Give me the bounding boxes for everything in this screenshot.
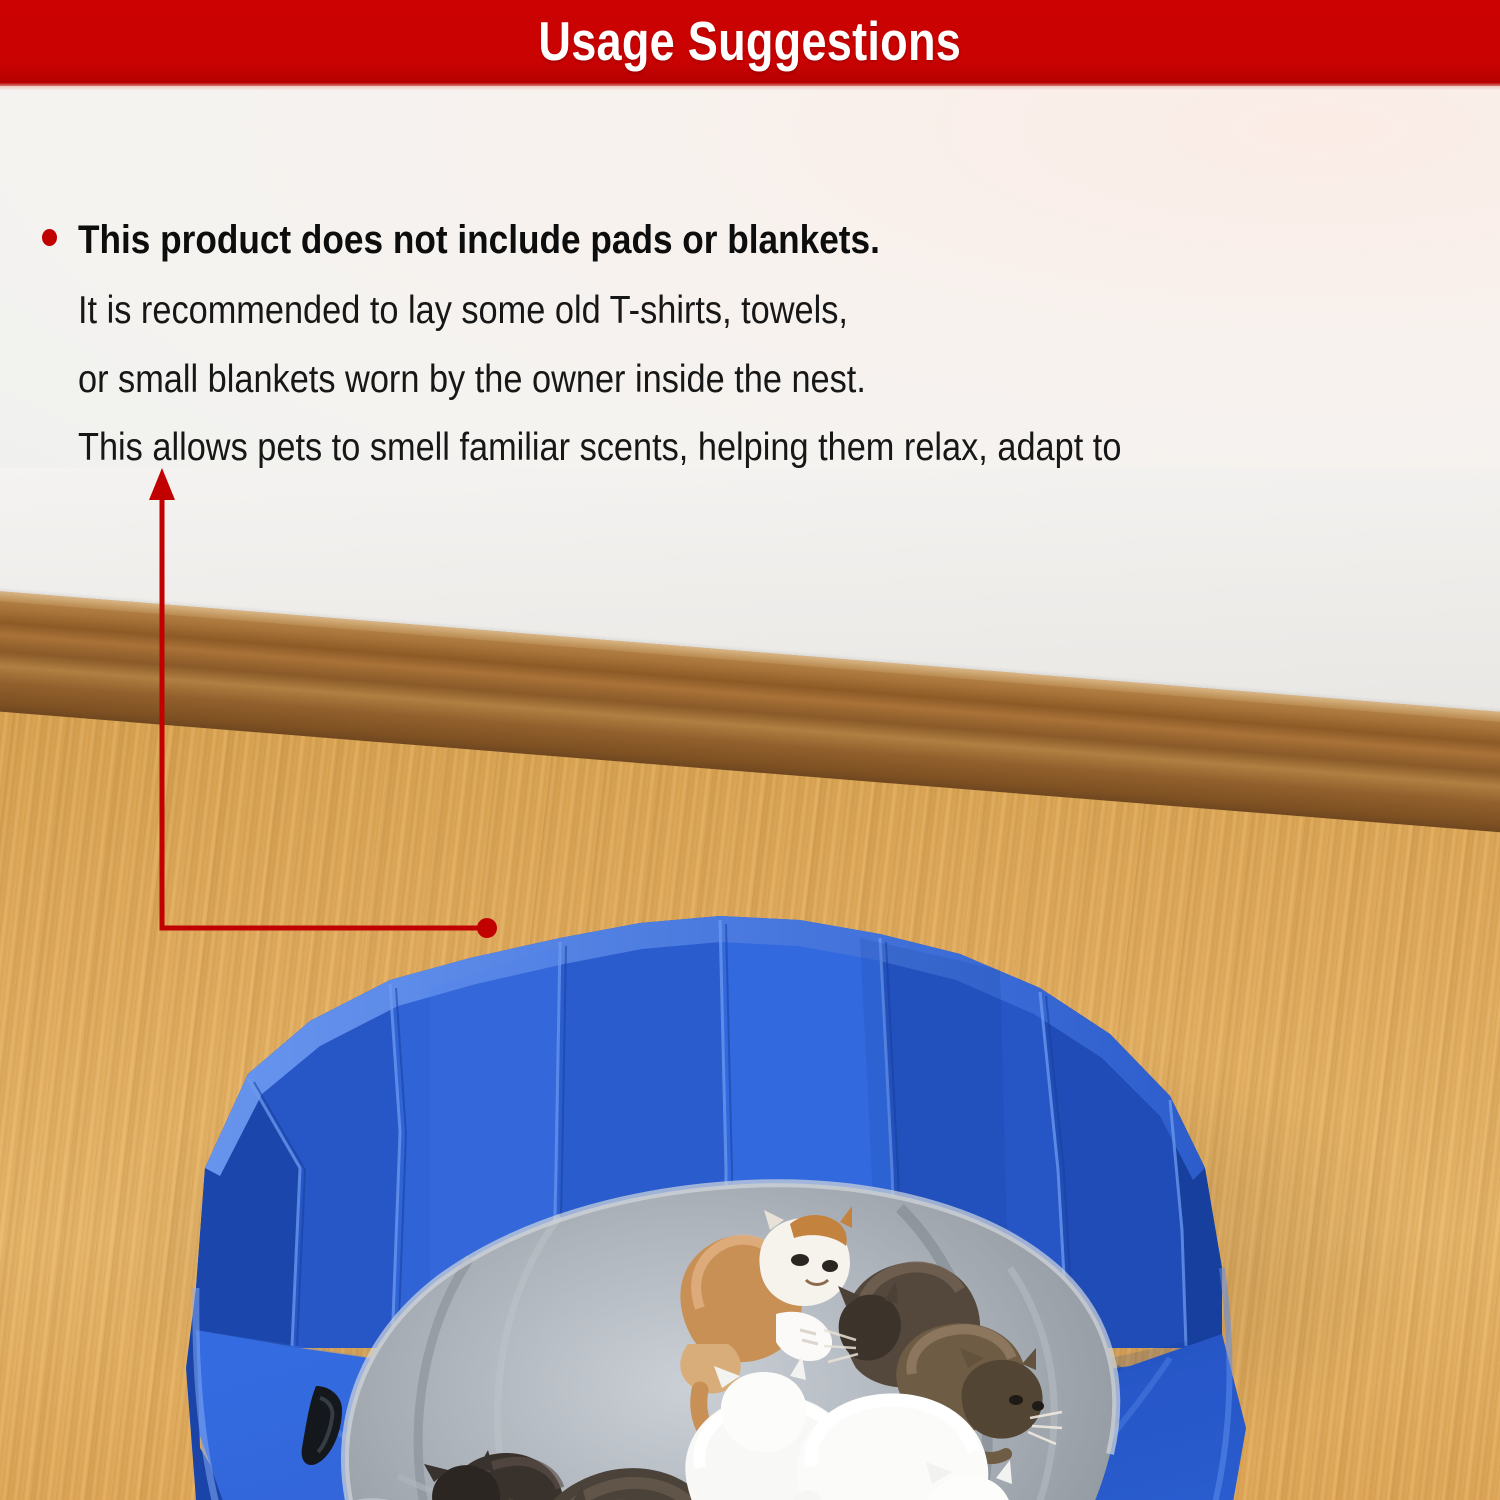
body-line-4: This allows pets to smell familiar scent…	[78, 428, 1121, 467]
pet-playpen	[0, 468, 1500, 1500]
usage-suggestions-text-block: This product does not include pads or bl…	[0, 90, 1500, 478]
infographic-page: Usage Suggestions This product does not …	[0, 0, 1500, 1500]
product-photo	[0, 468, 1500, 1500]
header-banner: Usage Suggestions	[0, 0, 1500, 86]
bullet-point-icon	[42, 229, 57, 246]
body-line-3: or small blankets worn by the owner insi…	[78, 360, 866, 399]
body-line-2: It is recommended to lay some old T-shir…	[78, 291, 848, 330]
playpen-illustration	[0, 468, 1500, 1500]
page-title: Usage Suggestions	[539, 14, 962, 69]
body-line-1: This product does not include pads or bl…	[78, 220, 880, 260]
